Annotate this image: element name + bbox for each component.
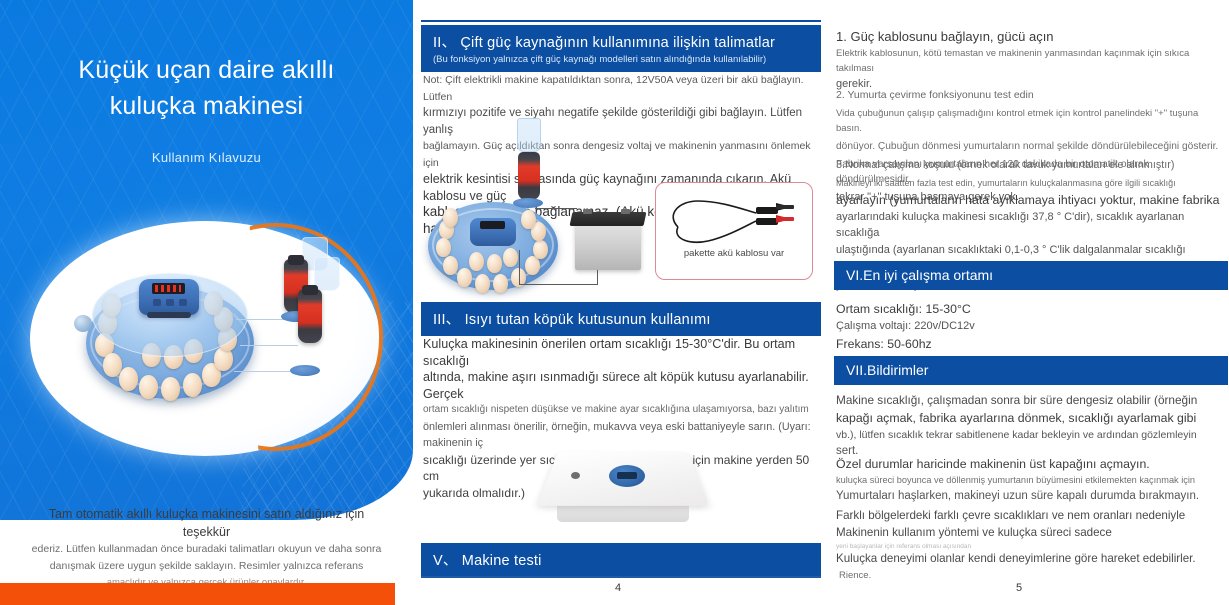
egg <box>533 240 548 259</box>
section-7-p3-line1: Farklı bölgelerdeki farklı çevre sıcaklı… <box>836 508 1226 525</box>
cover-orange-notch <box>395 583 413 605</box>
egg <box>443 256 458 275</box>
middle-page-top-rule <box>421 20 821 22</box>
section-3-header: III、 Isıyı tutan köpük kutusunun kullanı… <box>421 302 821 336</box>
egg <box>521 210 536 229</box>
step-2-line2: dönüyor. Çubuğun dönmesi yumurtaların no… <box>836 139 1226 154</box>
page-number-right: 5 <box>1016 582 1022 594</box>
control-button-mid[interactable] <box>166 299 174 306</box>
battery-top-cover <box>570 212 647 226</box>
section-5-title: V、 Makine testi <box>433 549 811 570</box>
section-6-title: VI.En iyi çalışma ortamı <box>846 267 993 283</box>
cover-footer-line3: danışmak üzere uygun şekilde saklayın. R… <box>24 558 389 575</box>
egg <box>139 375 158 399</box>
right-page: 1. Güç kablosunu bağlayın, gücü açın Ele… <box>826 0 1229 605</box>
section-7-p2-line2: kuluçka süreci boyunca ve döllenmiş yumu… <box>836 473 1226 488</box>
bottle-base-small <box>513 198 543 208</box>
section-2-body-line2: kırmızıyı pozitife ve siyahı negatife şe… <box>423 105 819 138</box>
egg <box>457 268 472 287</box>
control-panel <box>139 279 199 315</box>
egg <box>503 248 518 267</box>
egg <box>525 256 540 275</box>
control-display <box>152 283 185 294</box>
cover-title: Küçük uçan daire akıllı kuluçka makinesi <box>0 52 413 124</box>
water-bottle-small <box>518 152 540 200</box>
egg <box>183 373 202 397</box>
section-7-paragraph-4: Kuluçka deneyimi olanlar kendi deneyimle… <box>836 551 1226 583</box>
egg <box>487 254 502 273</box>
section-2-body-line1: Not: Çift elektrikli makine kapatıldıkta… <box>423 72 819 105</box>
battery-terminal-pos <box>583 209 592 214</box>
measuring-cup <box>314 257 340 291</box>
section-3-body-line2: altında, makine aşırı ısınmadığı sürece … <box>423 369 819 402</box>
section-7-p4-line1: Kuluçka deneyimi olanlar kendi deneyimle… <box>836 551 1226 568</box>
step-3-heading: 3.Normal çalışma koşulu (örnek olarak ta… <box>836 157 1226 174</box>
section-7-p1-line2: kapağı açmak, fabrika ayarlarına dönmek,… <box>836 409 1226 427</box>
step-2-line1: Vida çubuğunun çalışıp çalışmadığını kon… <box>836 106 1226 136</box>
bottle-cap <box>288 255 304 265</box>
control-panel-foot <box>147 312 191 318</box>
section-7-title: VII.Bildirimler <box>846 362 928 378</box>
cover-footer-line1: Tam otomatik akıllı kuluçka makinesini s… <box>24 505 389 541</box>
section-3-body-line3: ortam sıcaklığı nispeten düşükse ve maki… <box>423 402 819 419</box>
callout-line <box>240 345 298 346</box>
cover-title-line1: Küçük uçan daire akıllı <box>78 56 334 84</box>
section-6-line3: Frekans: 50-60hz <box>836 335 1226 353</box>
section-7-paragraph-2: Özel durumlar haricinde makinenin üst ka… <box>836 455 1226 505</box>
section-7-p1-line1: Makine sıcaklığı, çalışmadan sonra bir s… <box>836 392 1226 409</box>
battery-wire-1 <box>535 208 577 209</box>
egg <box>469 252 484 271</box>
incubator-side-knob <box>74 315 92 332</box>
step-1-block: 1. Güç kablosunu bağlayın, gücü açın Ele… <box>836 28 1226 93</box>
page-number-left: 4 <box>615 582 621 594</box>
section-6-line1: Ortam sıcaklığı: 15-30°C <box>836 300 1226 318</box>
cover-subtitle: Kullanım Kılavuzu <box>0 150 413 165</box>
cover-title-line2: kuluçka makinesi <box>0 88 413 124</box>
section-7-header: VII.Bildirimler <box>834 356 1228 385</box>
egg <box>493 274 508 293</box>
section-6-header: VI.En iyi çalışma ortamı <box>834 261 1228 290</box>
cover-orange-bar <box>0 583 413 605</box>
step-2-heading: 2. Yumurta çevirme fonksiyonunu test edi… <box>836 88 1226 103</box>
cover-footer-line2: ederiz. Lütfen kullanmadan önce buradaki… <box>24 541 389 558</box>
egg <box>475 274 490 293</box>
measuring-cup-small <box>517 118 541 152</box>
section-7-p3-line2: Makinenin kullanım yöntemi ve kuluçka sü… <box>836 525 1226 542</box>
battery-terminal-neg <box>621 209 630 214</box>
middle-page: II、 Çift güç kaynağının kullanımına iliş… <box>413 0 822 605</box>
section-5-header: V、 Makine testi <box>421 543 821 577</box>
section-7-p2-line1: Özel durumlar haricinde makinenin üst ka… <box>836 455 1226 473</box>
section-3-title: III、 Isıyı tutan köpük kutusunun kullanı… <box>433 308 811 329</box>
battery-wire-3 <box>519 284 597 285</box>
section-7-p4-line2: Rience. <box>836 568 1226 583</box>
control-panel-small <box>470 218 516 246</box>
incubator-hero-illustration <box>18 215 396 465</box>
egg <box>161 377 180 401</box>
middle-page-bottom-rule <box>421 576 821 578</box>
cover-footer-note: Tam otomatik akıllı kuluçka makinesini s… <box>0 505 413 591</box>
callout-line <box>234 371 298 372</box>
battery-cable-callout-box: pakette akü kablosu var <box>655 182 813 280</box>
section-6-body: Ortam sıcaklığı: 15-30°C Çalışma voltajı… <box>836 300 1226 353</box>
control-button-right[interactable] <box>179 299 187 306</box>
section-7-p1-line3: vb.), lütfen sıcaklık tekrar sabitlenene… <box>836 427 1226 444</box>
section-7-paragraph-1: Makine sıcaklığı, çalışmadan sonra bir s… <box>836 392 1226 460</box>
egg <box>443 208 458 227</box>
section-7-p2-line3: Yumurtaları haşlarken, makineyi uzun sür… <box>836 488 1226 505</box>
section-3-body-line1: Kuluçka makinesinin önerilen ortam sıcak… <box>423 336 819 369</box>
control-button-left[interactable] <box>153 299 161 306</box>
bottle-cap <box>302 285 318 295</box>
cable-box-caption: pakette akü kablosu var <box>656 248 812 259</box>
battery-wire-4 <box>597 270 598 285</box>
egg <box>436 238 451 257</box>
step-1-line1: Elektrik kablosunun, kötü temastan ve ma… <box>836 46 1226 76</box>
battery-cable-icon <box>656 187 812 257</box>
section-2-header: II、 Çift güç kaynağının kullanımına iliş… <box>421 25 821 72</box>
control-display-small <box>480 221 505 229</box>
battery-unit <box>575 222 641 270</box>
foam-box-vent <box>571 472 580 479</box>
step-3-line2: ayarlayın (yumurtaların hata ayıklamaya … <box>836 191 1226 209</box>
manual-spread: Küçük uçan daire akıllı kuluçka makinesi… <box>0 0 1229 605</box>
foam-box-illustration <box>543 428 703 536</box>
egg <box>119 367 138 391</box>
section-7-paragraph-3: Farklı bölgelerdeki farklı çevre sıcaklı… <box>836 508 1226 552</box>
step-3-line1: Makineyi iki saatten fazla test edin, yu… <box>836 176 1226 191</box>
battery-wire-2 <box>519 250 520 284</box>
section-2-subtitle: (Bu fonksiyon yalnızca çift güç kaynağı … <box>433 54 811 65</box>
battery-connection-illustration: pakette akü kablosu var <box>423 160 819 300</box>
water-bottle-bottom <box>298 289 322 343</box>
foam-box-control-disc <box>609 465 645 487</box>
bottle-base <box>290 365 320 376</box>
step-3-line3: ayarlarındaki kuluçka makinesi sıcaklığı… <box>836 209 1226 242</box>
section-6-line2: Çalışma voltajı: 220v/DC12v <box>836 318 1226 335</box>
cover-page: Küçük uçan daire akıllı kuluçka makinesi… <box>0 0 413 605</box>
section-2-title: II、 Çift güç kaynağının kullanımına iliş… <box>433 31 811 52</box>
step-1-heading: 1. Güç kablosunu bağlayın, gücü açın <box>836 28 1226 46</box>
